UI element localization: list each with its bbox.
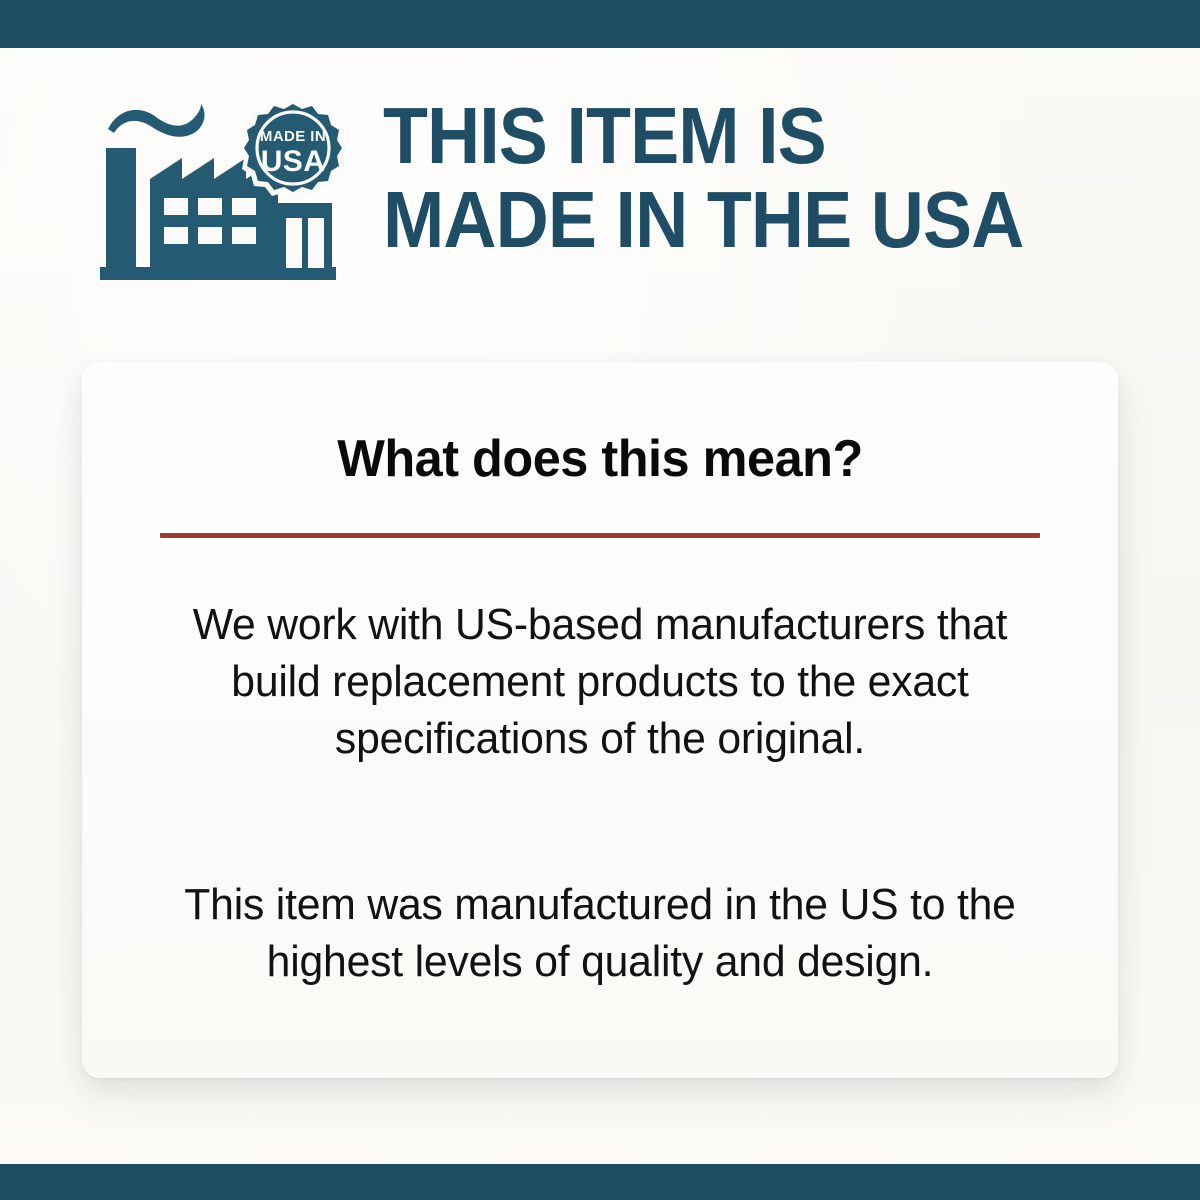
info-card: What does this mean? We work with US-bas…	[82, 362, 1118, 1078]
svg-text:USA: USA	[261, 145, 326, 178]
page-header: MADE IN USA THIS ITEM IS MADE IN THE USA	[0, 92, 1200, 292]
page-title-line-1: THIS ITEM IS	[383, 94, 1110, 178]
smoke-plume-icon	[108, 104, 205, 137]
made-in-usa-logo: MADE IN USA	[98, 100, 346, 284]
bottom-accent-band	[0, 1164, 1200, 1200]
page-title-line-2: MADE IN THE USA	[383, 178, 1110, 262]
page-title: THIS ITEM IS MADE IN THE USA	[383, 94, 1173, 262]
card-heading: What does this mean?	[98, 430, 1103, 488]
heading-divider	[160, 533, 1040, 538]
top-accent-band	[0, 0, 1200, 48]
card-paragraph-1: We work with US-based manufacturers that…	[146, 596, 1054, 767]
chimney-icon	[106, 148, 136, 269]
svg-text:MADE IN: MADE IN	[260, 128, 326, 145]
factory-base-icon	[100, 267, 336, 280]
page-root: MADE IN USA THIS ITEM IS MADE IN THE USA…	[0, 0, 1200, 1200]
made-in-usa-badge-icon: MADE IN USA	[238, 100, 346, 199]
card-paragraph-2: This item was manufactured in the US to …	[146, 876, 1054, 990]
